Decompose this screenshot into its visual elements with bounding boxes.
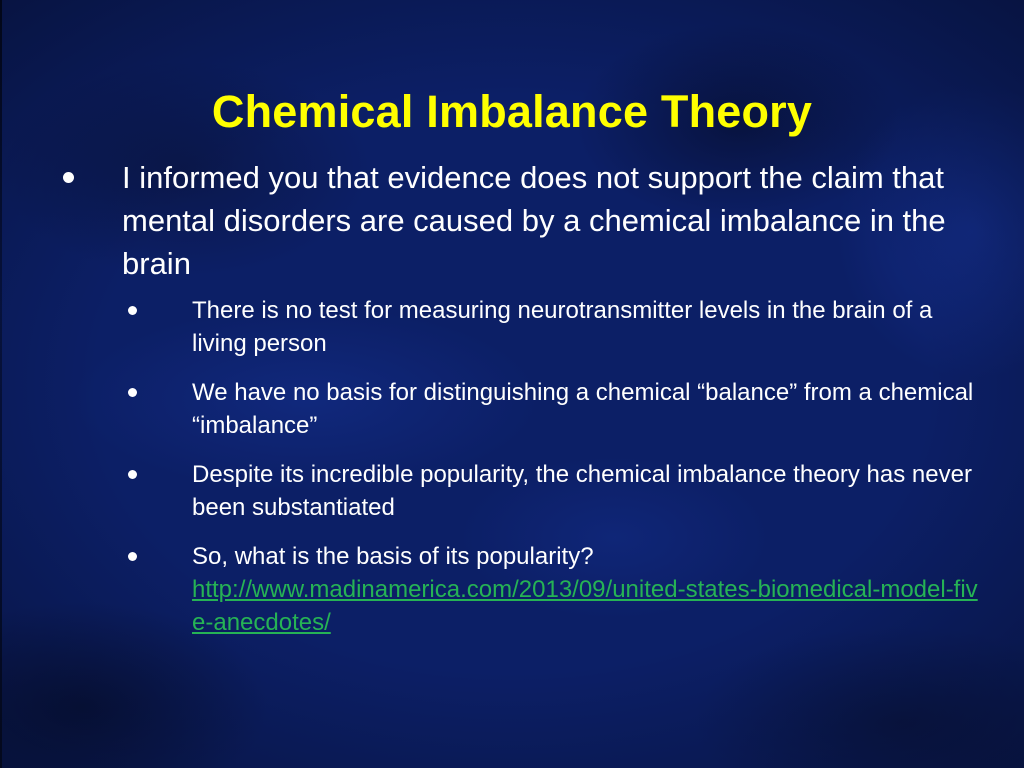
list-item: Despite its incredible popularity, the c… — [0, 458, 1024, 524]
bullet-text: We have no basis for distinguishing a ch… — [192, 379, 973, 439]
list-item: We have no basis for distinguishing a ch… — [0, 376, 1024, 442]
bullet-text: So, what is the basis of its popularity? — [192, 543, 594, 570]
bullet-dot-icon — [128, 552, 137, 561]
slide-title: Chemical Imbalance Theory — [0, 88, 1024, 135]
list-item: So, what is the basis of its popularity?… — [0, 540, 1024, 639]
bullet-text: There is no test for measuring neurotran… — [192, 297, 932, 357]
bullet-text: Despite its incredible popularity, the c… — [192, 461, 972, 521]
slide-body: I informed you that evidence does not su… — [0, 156, 1024, 639]
bullet-dot-icon — [128, 306, 137, 315]
bullet-dot-icon — [128, 470, 137, 479]
list-item: There is no test for measuring neurotran… — [0, 294, 1024, 360]
bullet-text: I informed you that evidence does not su… — [122, 160, 946, 281]
sub-bullet-list: There is no test for measuring neurotran… — [0, 294, 1024, 639]
bullet-dot-icon — [128, 388, 137, 397]
external-link[interactable]: http://www.madinamerica.com/2013/09/unit… — [192, 573, 978, 639]
presentation-slide: Chemical Imbalance Theory I informed you… — [0, 0, 1024, 768]
list-item: I informed you that evidence does not su… — [0, 156, 1024, 285]
bullet-dot-icon — [63, 172, 74, 183]
